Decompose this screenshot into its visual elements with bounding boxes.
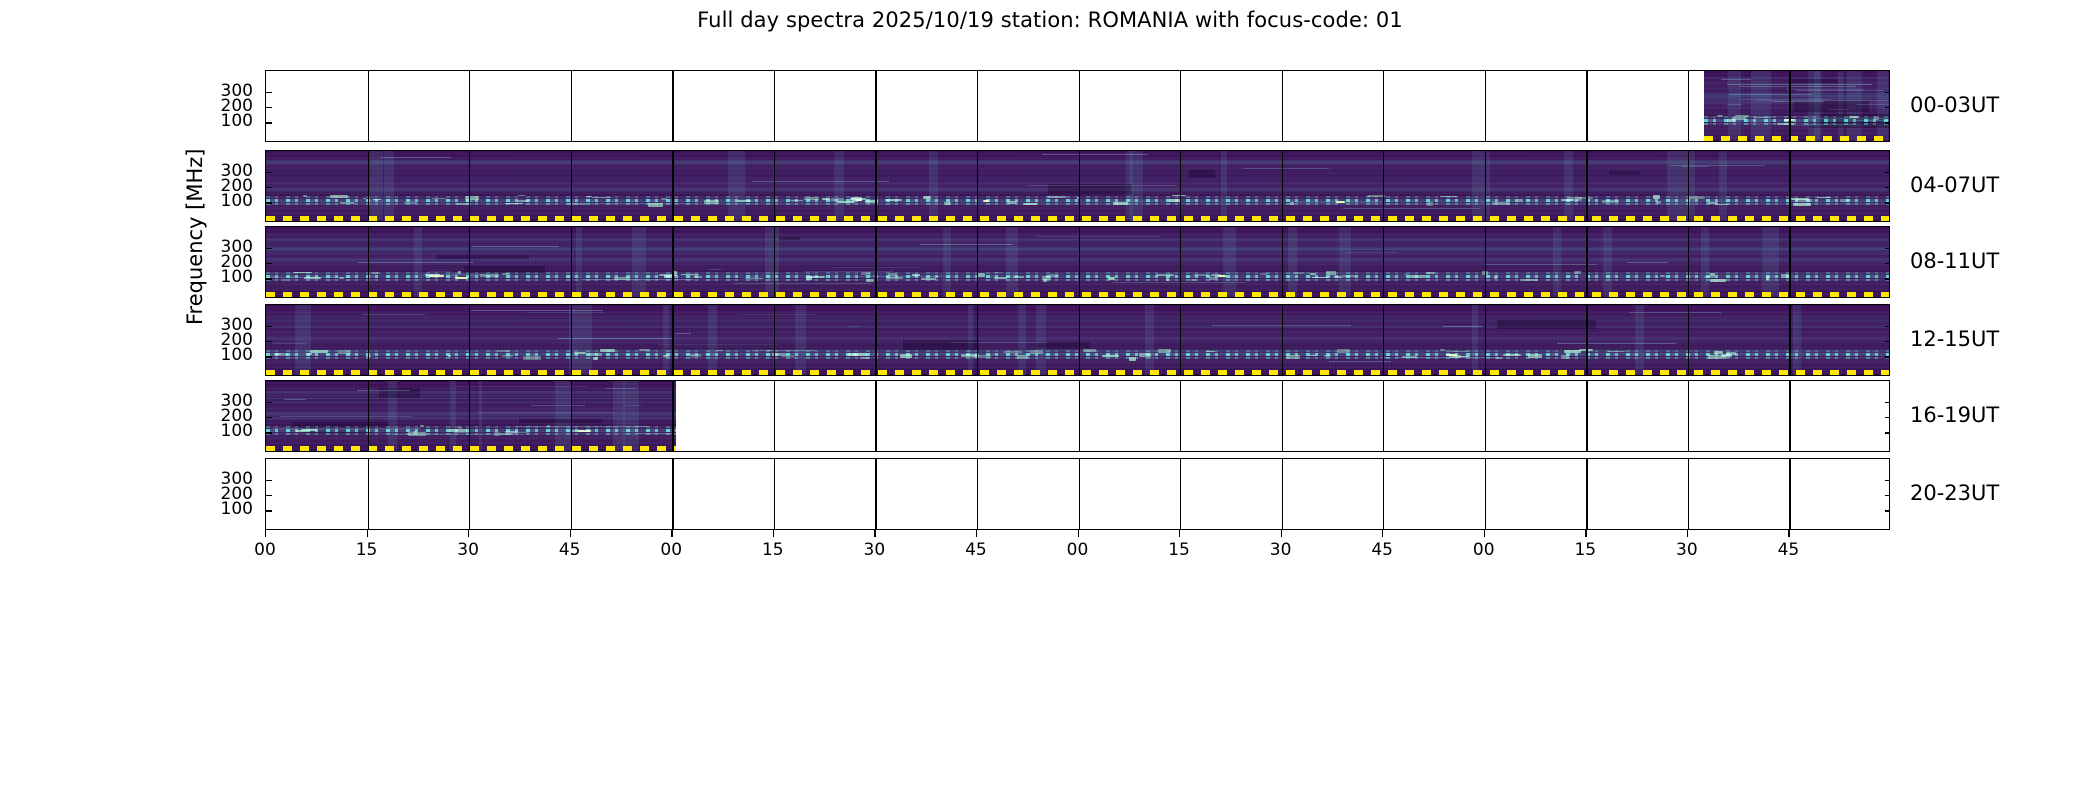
column-separator (774, 381, 775, 451)
y-tick-mark (266, 402, 272, 403)
column-separator (1383, 381, 1384, 451)
low-power-block (1189, 170, 1215, 178)
faint-streak (284, 399, 306, 400)
y-tick-mark-right (1885, 187, 1890, 188)
column-separator (1789, 381, 1790, 451)
y-tick-mark (266, 202, 272, 203)
bright-blotch (494, 432, 500, 436)
column-separator (1586, 151, 1587, 221)
y-tick-mark (266, 122, 272, 123)
bright-blotch (661, 198, 667, 200)
bright-blotch (307, 353, 312, 355)
bright-blotch (1030, 350, 1043, 354)
faint-streak (1727, 104, 1741, 105)
emission-band (266, 429, 676, 432)
column-separator (571, 459, 572, 529)
bright-blotch (593, 357, 598, 360)
column-separator (1688, 71, 1689, 141)
bright-blotch (663, 355, 670, 357)
column-separator (469, 381, 470, 451)
column-separator (672, 71, 673, 141)
x-axis: 00153045001530450015304500153045 (265, 530, 1890, 590)
bright-blotch (1602, 200, 1619, 203)
row-plot-area (266, 305, 1889, 375)
bright-blotch (281, 279, 286, 281)
bright-blotch (1440, 196, 1458, 197)
marker-dashed-line (266, 446, 676, 451)
faint-streak (1243, 168, 1329, 169)
x-tick-label: 15 (356, 540, 378, 560)
faint-streak (527, 312, 604, 313)
bright-blotch (330, 195, 348, 198)
bright-blotch (1169, 199, 1180, 203)
x-tick-mark (1585, 530, 1586, 537)
x-tick-mark (570, 530, 571, 537)
bright-blotch (304, 277, 320, 280)
bright-blotch (339, 277, 344, 279)
low-power-block (1609, 171, 1640, 175)
y-tick-label: 100 (193, 421, 253, 441)
y-tick-label: 100 (193, 345, 253, 365)
column-separator (1688, 151, 1689, 221)
time-stripe (370, 151, 383, 221)
faint-streak (357, 390, 410, 391)
bright-blotch (944, 202, 951, 204)
time-stripe (1018, 305, 1026, 375)
column-separator (977, 459, 978, 529)
bright-blotch (1574, 271, 1581, 274)
bright-blotch (1324, 355, 1331, 358)
faint-streak (1557, 343, 1676, 344)
column-separator (571, 71, 572, 141)
column-separator (368, 227, 369, 297)
column-separator (1383, 151, 1384, 221)
column-separator (1485, 151, 1486, 221)
column-separator (774, 305, 775, 375)
column-separator (1079, 227, 1080, 297)
bright-blotch (912, 274, 920, 276)
spectrogram-data[interactable] (266, 381, 676, 451)
bright-blotch (1849, 116, 1859, 117)
time-stripe (1762, 227, 1779, 297)
bright-blotch (1334, 276, 1342, 278)
column-separator (977, 227, 978, 297)
y-tick-mark (266, 356, 272, 357)
column-separator (672, 305, 673, 375)
time-stripe (663, 305, 670, 375)
bright-blotch (517, 200, 528, 202)
time-stripe (1719, 151, 1726, 221)
faint-streak (833, 267, 921, 268)
y-tick-label: 100 (193, 111, 253, 131)
column-separator (1688, 459, 1689, 529)
time-stripe (1553, 227, 1560, 297)
column-separator (672, 459, 673, 529)
bright-blotch (1191, 279, 1196, 282)
faint-streak (1028, 185, 1177, 186)
time-stripe (1728, 71, 1741, 141)
bright-blotch (1166, 278, 1169, 281)
bright-blotch (1777, 123, 1794, 125)
time-stripe (1701, 227, 1709, 297)
faint-streak (709, 269, 720, 270)
bright-blotch (853, 353, 857, 356)
time-stripe (1684, 151, 1695, 221)
bright-blotch (1113, 202, 1128, 206)
faint-streak (605, 388, 636, 389)
time-stripe (384, 151, 394, 221)
faint-streak (1329, 361, 1391, 362)
bright-blotch (822, 198, 830, 200)
bright-blotch (1003, 351, 1022, 353)
bright-blotch (848, 353, 867, 356)
faint-streak (1857, 104, 1890, 105)
y-tick-mark (266, 341, 272, 342)
faint-streak (1828, 109, 1849, 110)
bright-blotch (1194, 274, 1209, 276)
column-separator (1789, 305, 1790, 375)
x-tick-label: 30 (864, 540, 886, 560)
column-separator (875, 459, 876, 529)
x-tick-label: 00 (254, 540, 276, 560)
spectrogram-row[interactable] (265, 304, 1890, 376)
time-stripe (632, 227, 646, 297)
x-tick-label: 45 (559, 540, 581, 560)
y-tick-mark-right (1885, 248, 1890, 249)
column-separator (1282, 459, 1283, 529)
bright-blotch (293, 272, 312, 273)
row-plot-area (266, 459, 1889, 529)
bright-blotch (1840, 199, 1849, 201)
y-tick-mark-right (1885, 356, 1890, 357)
row-plot-area (266, 151, 1889, 221)
faint-streak (1757, 100, 1785, 101)
bright-blotch (1013, 276, 1024, 278)
spectrogram-figure: Full day spectra 2025/10/19 station: ROM… (0, 0, 2100, 800)
low-power-block (779, 237, 800, 240)
column-separator (1485, 227, 1486, 297)
column-separator (469, 459, 470, 529)
column-separator (1383, 305, 1384, 375)
low-power-block (1048, 184, 1132, 193)
time-stripe (479, 381, 481, 451)
column-separator (368, 151, 369, 221)
column-separator (1485, 459, 1486, 529)
faint-streak (658, 344, 777, 345)
spectrogram-row[interactable] (265, 380, 1890, 452)
y-tick-mark (266, 92, 272, 93)
bright-blotch (1260, 273, 1269, 275)
x-tick-mark (1382, 530, 1383, 537)
column-separator (672, 381, 673, 451)
bright-blotch (614, 277, 631, 280)
bright-blotch (745, 278, 763, 279)
column-separator (1282, 71, 1283, 141)
x-tick-mark (468, 530, 469, 537)
faint-streak (1037, 236, 1160, 237)
column-separator (977, 381, 978, 451)
time-stripe (555, 381, 572, 451)
bright-blotch (340, 202, 354, 205)
x-tick-mark (1179, 530, 1180, 537)
bright-blotch (1047, 196, 1066, 198)
y-tick-mark-right (1885, 263, 1890, 264)
x-tick-label: 00 (660, 540, 682, 560)
x-tick-mark (1078, 530, 1079, 537)
bright-blotch (1726, 352, 1736, 355)
bright-blotch (497, 350, 510, 352)
bright-blotch (860, 357, 868, 359)
emission-band-secondary (1704, 123, 1890, 125)
row-time-label: 04-07UT (1910, 173, 1999, 197)
peak-hotspot (578, 430, 591, 432)
spectrogram-row[interactable] (265, 70, 1890, 142)
bright-blotch (866, 279, 874, 281)
bright-blotch (1561, 355, 1569, 358)
bright-blotch (432, 198, 445, 199)
row-time-label: 12-15UT (1910, 327, 1999, 351)
row-time-label: 16-19UT (1910, 403, 1999, 427)
y-tick-mark (266, 417, 272, 418)
bright-blotch (465, 196, 479, 200)
column-separator (774, 71, 775, 141)
bright-blotch (1704, 276, 1716, 278)
column-separator (1586, 227, 1587, 297)
x-tick-mark (1484, 530, 1485, 537)
emission-band-secondary (266, 433, 676, 435)
bright-blotch (1156, 274, 1174, 276)
time-stripe (450, 381, 456, 451)
bright-blotch (1496, 357, 1503, 359)
bright-blotch (900, 354, 912, 357)
bright-blotch (1450, 351, 1468, 352)
time-stripe (1339, 227, 1351, 297)
column-separator (1180, 151, 1181, 221)
y-tick-mark (266, 278, 272, 279)
spectrogram-row[interactable] (265, 458, 1890, 530)
x-tick-mark (773, 530, 774, 537)
bright-blotch (704, 200, 719, 203)
y-tick-mark-right (1885, 278, 1890, 279)
bright-blotch (1326, 271, 1336, 275)
x-tick-mark (1788, 530, 1789, 537)
y-tick-label: 100 (193, 191, 253, 211)
column-separator (1789, 71, 1790, 141)
time-stripe (1288, 227, 1297, 297)
faint-streak (625, 405, 642, 406)
bright-blotch (1715, 204, 1729, 205)
column-separator (368, 305, 369, 375)
x-tick-label: 45 (965, 540, 987, 560)
page-title: Full day spectra 2025/10/19 station: ROM… (0, 8, 2100, 32)
bright-blotch (1528, 354, 1542, 358)
faint-streak (1721, 79, 1751, 80)
x-tick-mark (265, 530, 266, 537)
x-tick-label: 15 (762, 540, 784, 560)
bright-blotch (523, 356, 541, 360)
bright-blotch (994, 277, 1008, 279)
time-stripe (1036, 305, 1046, 375)
column-separator (977, 305, 978, 375)
bright-blotch (1158, 349, 1171, 353)
faint-streak (358, 262, 474, 263)
bright-blotch (1708, 355, 1727, 359)
y-tick-mark-right (1885, 402, 1890, 403)
y-tick-mark (266, 172, 272, 173)
column-separator (774, 459, 775, 529)
column-separator (1688, 227, 1689, 297)
faint-streak (362, 314, 425, 315)
column-separator (1383, 459, 1384, 529)
time-stripe (795, 305, 806, 375)
bright-blotch (767, 350, 771, 351)
time-stripe (728, 151, 745, 221)
spectrogram-row[interactable] (265, 226, 1890, 298)
bright-blotch (338, 350, 350, 354)
faint-streak (273, 343, 306, 344)
low-power-block (436, 255, 528, 259)
time-stripe (1667, 151, 1684, 221)
x-tick-mark (874, 530, 875, 537)
column-separator (1789, 227, 1790, 297)
bright-blotch (1874, 116, 1879, 120)
time-stripe (765, 227, 779, 297)
time-stripe (1564, 151, 1573, 221)
bright-blotch (690, 354, 701, 357)
column-separator (1282, 305, 1283, 375)
faint-streak (531, 405, 585, 406)
time-stripe (834, 151, 844, 221)
column-separator (571, 227, 572, 297)
time-stripe (708, 305, 718, 375)
bright-blotch (371, 272, 380, 274)
faint-streak (280, 416, 413, 417)
bright-blotch (1795, 199, 1811, 202)
bright-blotch (408, 432, 426, 435)
column-separator (1586, 381, 1587, 451)
bright-blotch (1714, 351, 1723, 353)
faint-streak (1443, 326, 1482, 327)
column-separator (571, 381, 572, 451)
bright-blotch (310, 350, 329, 353)
column-separator (1383, 71, 1384, 141)
faint-streak (951, 342, 1047, 343)
column-separator (875, 305, 876, 375)
x-tick-mark (1281, 530, 1282, 537)
faint-streak (454, 386, 587, 387)
faint-streak (478, 412, 615, 413)
column-separator (368, 459, 369, 529)
faint-streak (1484, 264, 1596, 265)
y-tick-label: 100 (193, 499, 253, 519)
bright-blotch (1793, 203, 1810, 206)
bright-blotch (1129, 357, 1136, 361)
y-tick-mark (266, 263, 272, 264)
low-power-block (1788, 79, 1837, 84)
column-separator (774, 151, 775, 221)
bright-blotch (1492, 202, 1510, 205)
column-separator (672, 227, 673, 297)
peak-hotspot (455, 277, 468, 279)
bright-blotch (1427, 202, 1434, 206)
y-tick-mark-right (1885, 326, 1890, 327)
y-tick-mark (266, 107, 272, 108)
emission-band-tertiary (266, 426, 676, 428)
y-tick-mark (266, 326, 272, 327)
low-power-block (1497, 320, 1596, 329)
bright-blotch (1440, 349, 1446, 351)
spectrogram-row[interactable] (265, 150, 1890, 222)
bright-blotch (1689, 196, 1705, 200)
bright-blotch (921, 278, 936, 280)
spectrogram-data[interactable] (1704, 71, 1890, 141)
bright-blotch (363, 198, 367, 199)
faint-streak (471, 310, 603, 311)
bright-blotch (1310, 355, 1318, 356)
column-separator (1688, 381, 1689, 451)
column-separator (875, 381, 876, 451)
column-separator (1079, 381, 1080, 451)
column-separator (1485, 381, 1486, 451)
bright-blotch (413, 431, 416, 434)
x-tick-label: 30 (1676, 540, 1698, 560)
bright-blotch (1023, 203, 1038, 205)
time-stripe (1223, 227, 1236, 297)
bright-blotch (1653, 195, 1661, 199)
y-tick-mark (266, 248, 272, 249)
y-tick-mark (266, 432, 272, 433)
faint-streak (1670, 165, 1765, 166)
bright-blotch (420, 425, 424, 426)
y-tick-mark-right (1885, 172, 1890, 173)
bright-blotch (303, 195, 307, 197)
faint-streak (1727, 84, 1873, 85)
y-tick-mark (266, 187, 272, 188)
faint-streak (733, 283, 872, 284)
column-separator (1485, 305, 1486, 375)
column-separator (1282, 381, 1283, 451)
bright-blotch (518, 195, 526, 196)
faint-streak (675, 333, 691, 334)
bright-blotch (1290, 202, 1294, 205)
bright-blotch (502, 355, 513, 357)
column-separator (368, 381, 369, 451)
column-separator (977, 151, 978, 221)
x-tick-label: 30 (457, 540, 479, 560)
column-separator (1485, 71, 1486, 141)
bright-blotch (1380, 357, 1390, 358)
bright-blotch (600, 349, 614, 352)
bright-blotch (1410, 275, 1425, 278)
x-tick-label: 30 (1270, 540, 1292, 560)
bright-blotch (888, 273, 896, 276)
bright-blotch (1660, 275, 1665, 278)
bright-blotch (1426, 272, 1434, 273)
bright-blotch (1108, 277, 1115, 280)
column-separator (1282, 151, 1283, 221)
column-separator (469, 151, 470, 221)
time-stripe (576, 227, 583, 297)
y-tick-mark-right (1885, 92, 1890, 93)
bright-blotch (1337, 349, 1350, 353)
bright-blotch (458, 426, 462, 429)
bright-blotch (886, 277, 903, 279)
column-separator (875, 71, 876, 141)
x-tick-mark (367, 530, 368, 537)
bright-blotch (648, 203, 663, 207)
time-stripe (295, 305, 312, 375)
bright-blotch (885, 199, 902, 200)
